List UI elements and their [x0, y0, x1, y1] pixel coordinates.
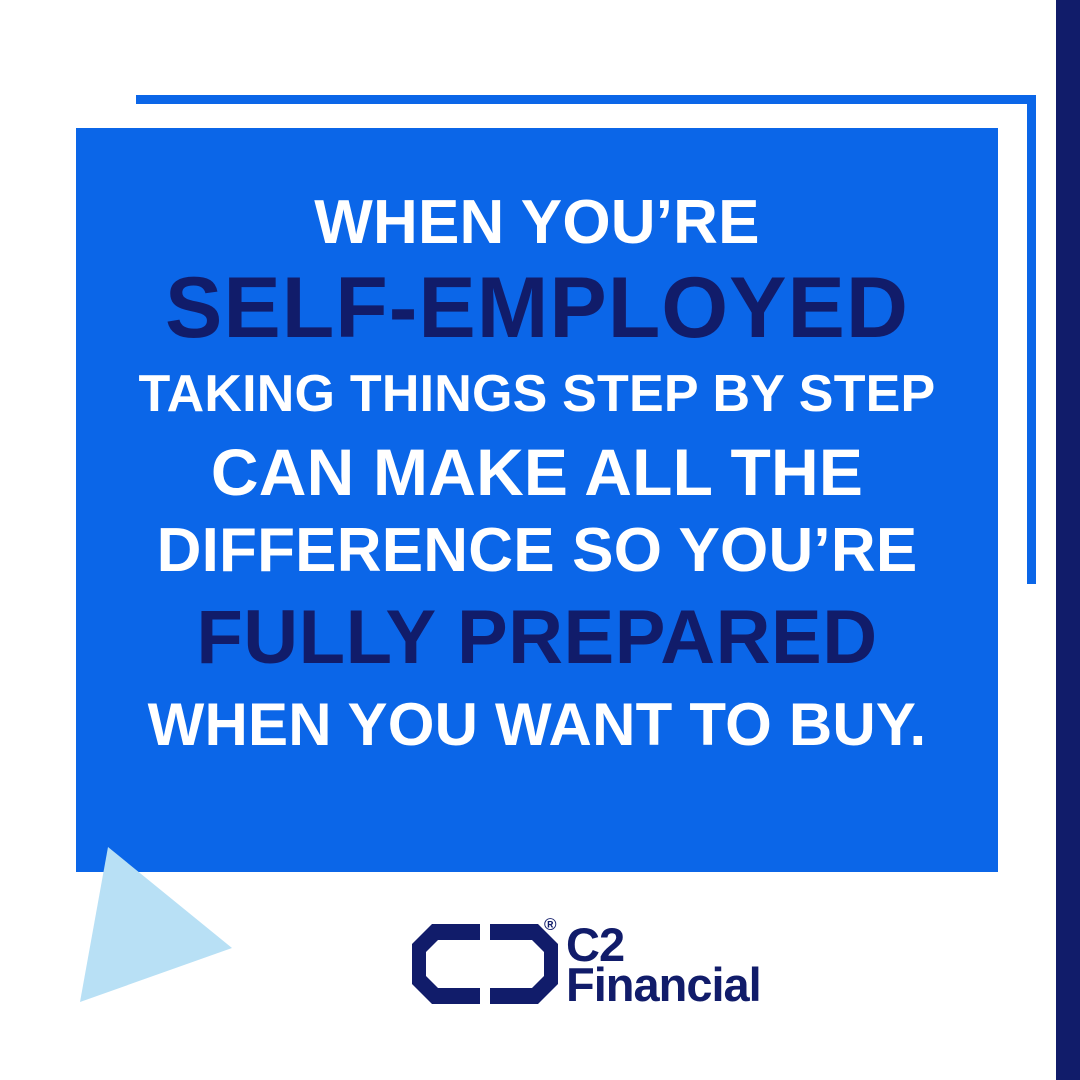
headline-line-2: SELF-EMPLOYED	[76, 260, 998, 356]
registered-trademark-icon: ®	[544, 918, 557, 933]
headline-line-4: CAN MAKE ALL THE	[76, 432, 998, 512]
logo-wordmark: ® C2 Financial	[566, 922, 761, 1006]
headline-line-6: FULLY PREPARED	[76, 590, 998, 686]
headline-line-5: DIFFERENCE SO YOU’RE	[76, 512, 998, 590]
headline-block: WHEN YOU’RE SELF-EMPLOYED TAKING THINGS …	[76, 186, 998, 764]
c2-financial-logo: ® C2 Financial	[412, 922, 742, 1018]
frame-right-rule	[1027, 95, 1036, 584]
logo-name-line-2: Financial	[566, 965, 761, 1005]
frame-top-rule	[136, 95, 1036, 104]
headline-line-7: WHEN YOU WANT TO BUY.	[76, 686, 998, 764]
blue-card: WHEN YOU’RE SELF-EMPLOYED TAKING THINGS …	[76, 128, 998, 872]
headline-line-3: TAKING THINGS STEP BY STEP	[76, 356, 998, 432]
light-blue-triangle-icon	[60, 830, 280, 1050]
navy-edge-bar	[1056, 0, 1080, 1080]
c2-chain-link-mark-icon	[412, 922, 560, 1006]
poster-canvas: WHEN YOU’RE SELF-EMPLOYED TAKING THINGS …	[0, 0, 1080, 1080]
headline-line-1: WHEN YOU’RE	[76, 186, 998, 260]
